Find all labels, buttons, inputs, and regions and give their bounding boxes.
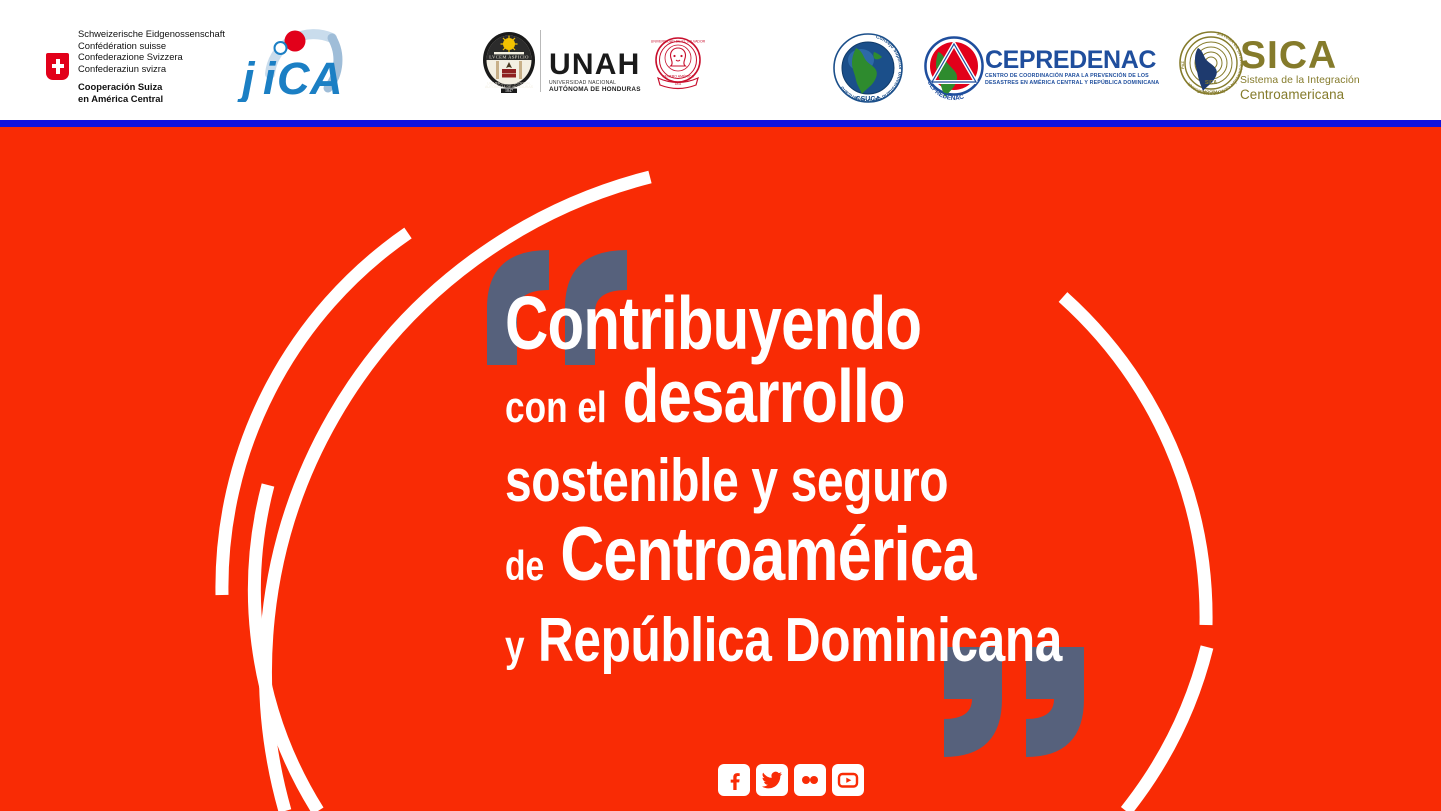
svg-text:1841: 1841 <box>675 82 682 86</box>
header-divider <box>540 30 541 92</box>
swiss-shield-icon <box>46 53 69 80</box>
sica-subtitle-1: Sistema de la Integración <box>1240 75 1360 87</box>
cepredenac-subtitle: CENTRO DE COORDINACIÓN PARA LA PREVENCIÓ… <box>985 73 1163 87</box>
hero-panel: Contribuyendo con el desarrollo sostenib… <box>0 127 1441 811</box>
cepredenac-wordmark: CEPREDENAC CENTRO DE COORDINACIÓN PARA L… <box>985 47 1163 87</box>
flickr-icon[interactable] <box>794 764 826 796</box>
headline-line-4: de Centroamérica <box>505 517 921 604</box>
social-links <box>718 764 864 796</box>
svg-text:j: j <box>237 53 256 102</box>
swiss-coop-line-1: Cooperación Suiza <box>78 81 225 93</box>
svg-text:i: i <box>263 53 277 102</box>
jica-logo-icon: j i C A <box>236 24 346 102</box>
twitter-icon[interactable] <box>756 764 788 796</box>
headline-line-5-small: y <box>505 622 525 671</box>
svg-text:1847: 1847 <box>505 88 513 93</box>
swiss-line-de: Schweizerische Eidgenossenschaft <box>78 28 225 40</box>
headline-line-2-small: con el <box>505 383 607 432</box>
sica-seal-icon: SISTEMA DE LA INTEGRACIÓN CENTROAMERICAN… <box>1178 30 1244 96</box>
swiss-line-rm: Confederaziun svizra <box>78 63 225 75</box>
swiss-line-fr: Confédération suisse <box>78 40 225 52</box>
headline-line-2: con el desarrollo <box>505 359 921 445</box>
unah-wordmark: UNAH UNIVERSIDAD NACIONAL AUTÓNOMA DE HO… <box>549 50 641 94</box>
swiss-cooperation-logo: Schweizerische Eidgenossenschaft Confédé… <box>46 28 225 105</box>
svg-text:DEMOCRACIA: DEMOCRACIA <box>1197 89 1225 94</box>
svg-text:LVCEM ASPICIO: LVCEM ASPICIO <box>489 54 529 59</box>
sica-acronym: SICA <box>1240 36 1360 75</box>
sica-subtitle-2: Centroamericana <box>1240 87 1360 102</box>
svg-text:C: C <box>277 53 311 102</box>
svg-text:CENTRO AMÉRICA: CENTRO AMÉRICA <box>662 74 694 79</box>
poster-canvas: Schweizerische Eidgenossenschaft Confédé… <box>0 0 1441 811</box>
headline-line-5-big: República Dominicana <box>538 606 1062 675</box>
ues-seal-icon: UNIVERSIDAD DE EL SALVADOR CENTRO AMÉRIC… <box>648 32 708 92</box>
cepredenac-seal-icon: CEPREDENAC <box>918 32 990 104</box>
headline-line-1: Contribuyendo <box>505 287 921 359</box>
svg-text:SICA: SICA <box>1205 80 1217 86</box>
swiss-coop-line-2: en América Central <box>78 93 225 105</box>
jica-logo: j i C A <box>236 24 346 102</box>
svg-text:A: A <box>309 53 343 102</box>
headline-line-5: y República Dominicana <box>505 604 921 684</box>
blue-divider-bar <box>0 120 1441 127</box>
spacer <box>78 74 225 81</box>
headline-line-3: sostenible y seguro <box>505 445 921 517</box>
logo-row: Schweizerische Eidgenossenschaft Confédé… <box>0 0 1441 120</box>
swiss-line-it: Confederazione Svizzera <box>78 51 225 63</box>
cepredenac-acronym: CEPREDENAC <box>985 47 1163 73</box>
logo-header: Schweizerische Eidgenossenschaft Confédé… <box>0 0 1441 120</box>
swiss-logo-text: Schweizerische Eidgenossenschaft Confédé… <box>78 28 225 105</box>
youtube-icon[interactable] <box>832 764 864 796</box>
csuca-seal-icon: Consejo Superior Universitario Centroame… <box>832 32 904 104</box>
svg-text:PAZ: PAZ <box>1180 61 1185 69</box>
svg-text:·CSUCA·: ·CSUCA· <box>853 96 883 103</box>
unah-acronym: UNAH <box>549 50 641 80</box>
sica-wordmark: SICA Sistema de la Integración Centroame… <box>1240 36 1360 102</box>
headline-line-4-big: Centroamérica <box>560 512 975 597</box>
unah-subtitle-2: AUTÓNOMA DE HONDURAS <box>549 86 641 94</box>
svg-text:UNIVERSIDAD DE EL SALVADOR: UNIVERSIDAD DE EL SALVADOR <box>651 40 706 44</box>
headline-line-2-big: desarrollo <box>623 354 905 438</box>
hero-headline: Contribuyendo con el desarrollo sostenib… <box>505 287 1025 684</box>
facebook-icon[interactable] <box>718 764 750 796</box>
headline-line-4-small: de <box>505 542 544 589</box>
unah-seal-icon: LVCEM ASPICIO UNIVERSIDAD NACIONAL AUTÓN… <box>481 31 537 93</box>
